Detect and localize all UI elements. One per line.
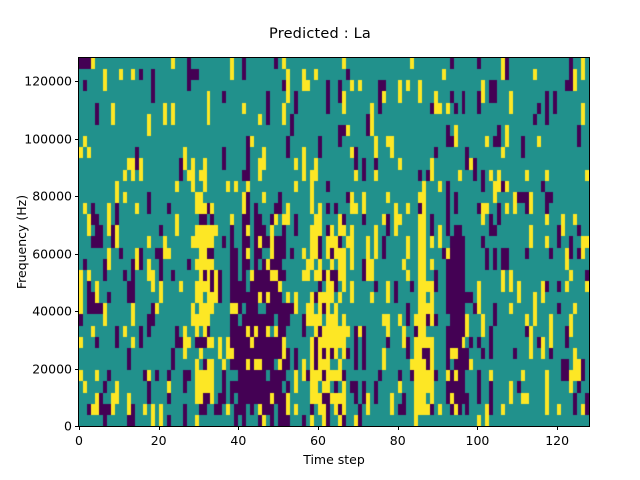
x-tick-mark	[238, 426, 239, 430]
x-tick-label: 80	[368, 433, 428, 448]
x-tick-label: 40	[208, 433, 268, 448]
x-tick-mark	[79, 426, 80, 430]
y-axis-label: Frequency (Hz)	[14, 58, 30, 426]
x-tick-label: 0	[49, 433, 109, 448]
x-tick-mark	[318, 426, 319, 430]
x-tick-label: 60	[288, 433, 348, 448]
x-tick-mark	[398, 426, 399, 430]
x-tick-mark	[477, 426, 478, 430]
x-tick-label: 120	[527, 433, 587, 448]
x-tick-mark	[557, 426, 558, 430]
matplotlib-figure: Predicted : La 0200004000060000800001000…	[0, 0, 640, 480]
x-tick-label: 100	[447, 433, 507, 448]
x-tick-label: 20	[129, 433, 189, 448]
x-axis: 020406080100120	[0, 0, 640, 480]
x-tick-mark	[159, 426, 160, 430]
x-axis-label: Time step	[79, 452, 589, 467]
